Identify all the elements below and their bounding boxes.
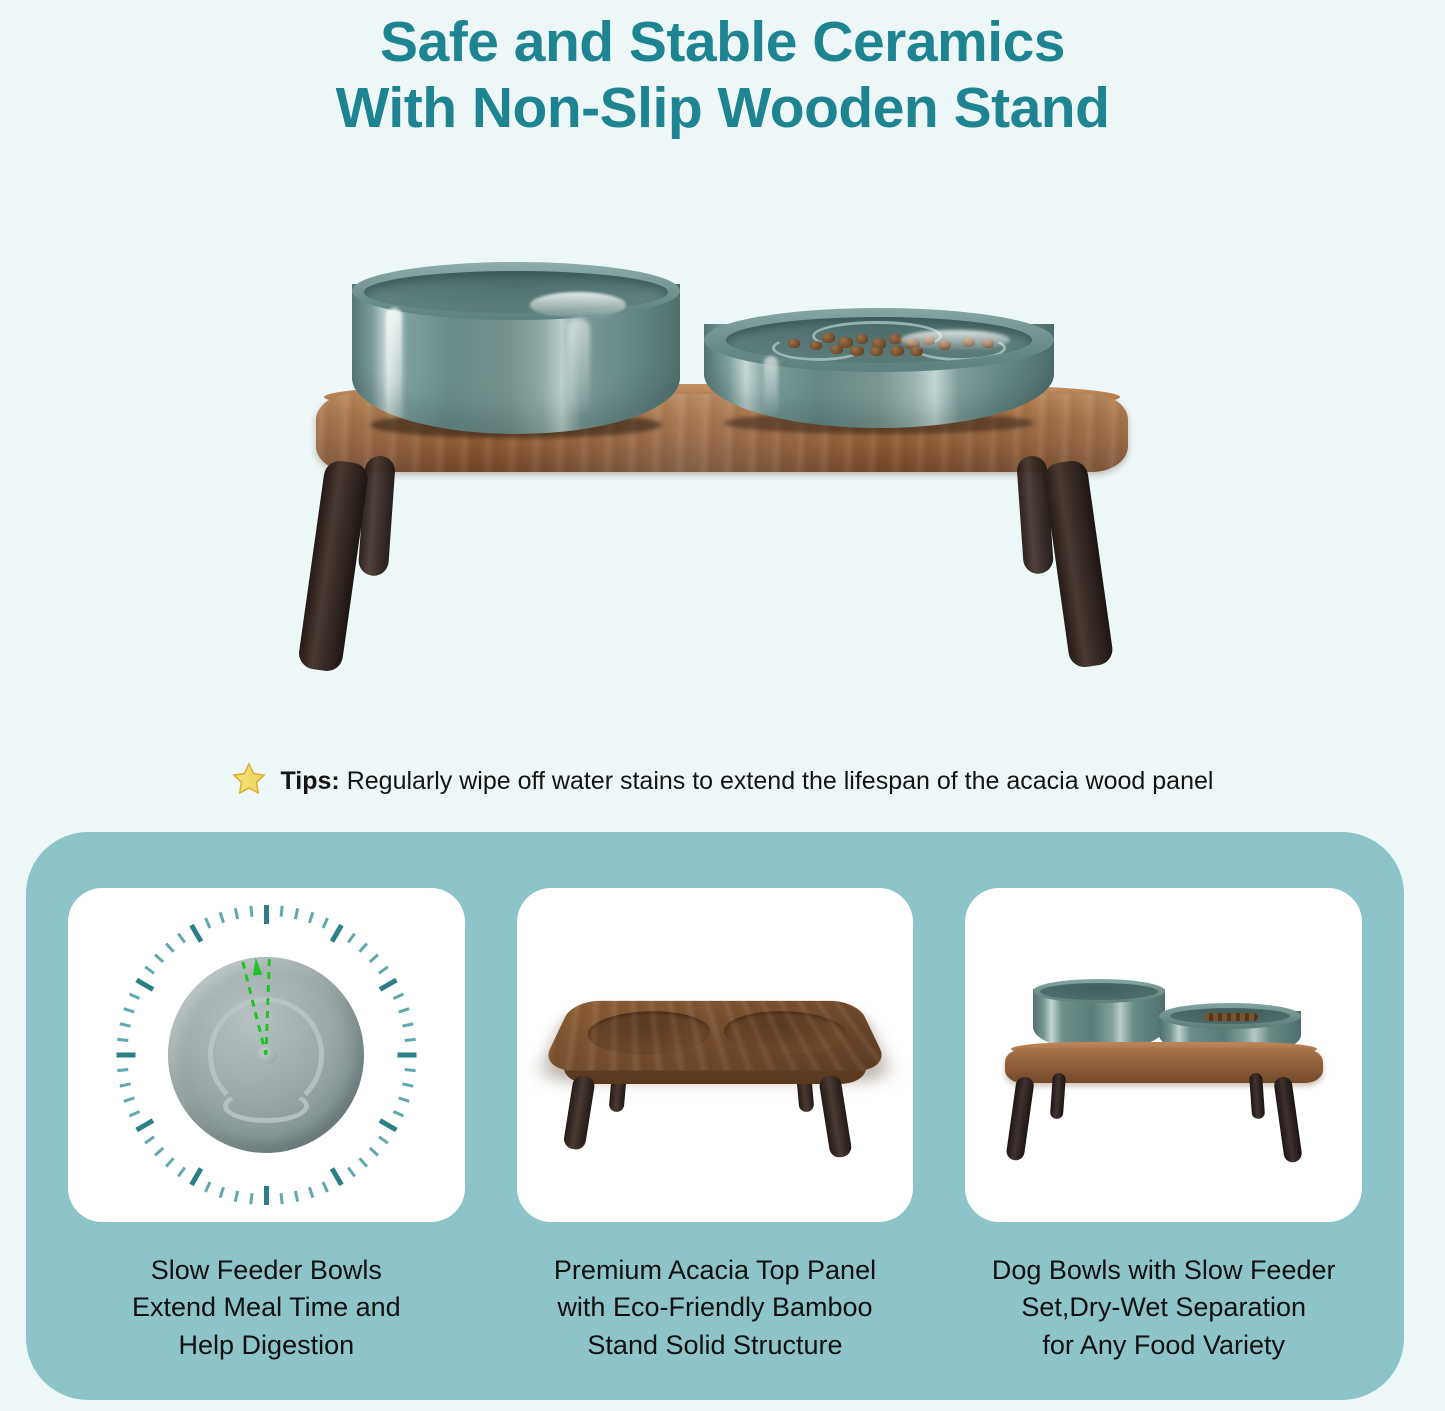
dial-tick-minor bbox=[378, 1135, 389, 1144]
dial-tick-minor bbox=[117, 1068, 128, 1072]
dial-tick-minor bbox=[393, 1110, 404, 1117]
kibble-pile bbox=[1204, 1013, 1258, 1021]
dial-tick-major bbox=[264, 1186, 269, 1205]
water-bowl bbox=[352, 262, 680, 442]
set-leg-front-right bbox=[1273, 1076, 1303, 1164]
set-leg-back-right bbox=[1249, 1073, 1265, 1120]
dial-tick-minor bbox=[279, 1193, 283, 1204]
dial-tick-minor bbox=[369, 954, 379, 964]
dial-tick-minor bbox=[129, 1110, 140, 1117]
kibble-piece bbox=[788, 339, 800, 348]
dial-tick-minor bbox=[119, 1022, 130, 1027]
dial-tick-minor bbox=[117, 1038, 128, 1042]
stand-leg-front-right bbox=[1042, 459, 1114, 669]
bowl-gloss-highlight bbox=[568, 318, 590, 414]
tips-row: Tips: Regularly wipe off water stains to… bbox=[0, 762, 1445, 796]
page-title-line-1: Safe and Stable Ceramics bbox=[0, 10, 1445, 76]
kibble-piece bbox=[822, 333, 835, 343]
tray-bowl-recess-left bbox=[579, 1011, 710, 1054]
kibble-piece bbox=[810, 341, 822, 350]
dial-tick-minor bbox=[402, 1082, 413, 1087]
dial-tick-minor bbox=[378, 966, 389, 975]
dial-tick-minor bbox=[119, 1082, 130, 1087]
dial-tick-major bbox=[189, 1167, 203, 1186]
dial-tick-minor bbox=[234, 1191, 239, 1202]
dial-tick-minor bbox=[308, 1187, 314, 1198]
set-leg-front-left bbox=[1005, 1076, 1035, 1162]
bowl-gloss-highlight bbox=[764, 356, 778, 416]
dial-tick-major bbox=[379, 1118, 398, 1132]
wooden-tray-stand-icon bbox=[550, 950, 880, 1160]
feeder-ridge-arc bbox=[223, 1089, 309, 1123]
star-icon bbox=[232, 762, 266, 794]
dial-tick-minor bbox=[249, 906, 253, 917]
dial-tick-minor bbox=[123, 1007, 134, 1013]
dial-tick-minor bbox=[393, 993, 404, 1000]
dial-tick-major bbox=[379, 978, 398, 992]
hero-stage bbox=[300, 180, 1150, 740]
bowl-gloss-highlight bbox=[900, 330, 1010, 350]
dial-tick-minor bbox=[398, 1007, 409, 1013]
kibble-piece bbox=[890, 346, 904, 356]
kibble-piece bbox=[850, 346, 864, 356]
caption-bowl-set: Dog Bowls with Slow Feeder Set,Dry-Wet S… bbox=[965, 1252, 1362, 1364]
dial-tick-minor bbox=[204, 917, 211, 928]
bowl-basin bbox=[1040, 983, 1158, 1000]
feature-captions-row: Slow Feeder Bowls Extend Meal Time and H… bbox=[68, 1252, 1362, 1364]
dial-tick-minor bbox=[129, 993, 140, 1000]
clock-dial-slow-feeder-icon bbox=[116, 905, 416, 1205]
dial-tick-minor bbox=[404, 1038, 415, 1042]
kibble-piece bbox=[830, 345, 843, 354]
dial-tick-major bbox=[135, 1118, 154, 1132]
dial-tick-minor bbox=[234, 908, 239, 919]
dial-tick-minor bbox=[144, 1135, 155, 1144]
dial-tick-minor bbox=[321, 917, 328, 928]
feature-card-slow-feeder[interactable] bbox=[68, 888, 465, 1222]
dial-tick-major bbox=[189, 924, 203, 943]
set-leg-back-left bbox=[1049, 1073, 1065, 1120]
dial-tick-minor bbox=[249, 1193, 253, 1204]
bowl-basin bbox=[1170, 1008, 1290, 1024]
tray-leg-front-right bbox=[818, 1074, 853, 1158]
tray-bowl-recess-right bbox=[723, 1011, 854, 1054]
features-panel: Slow Feeder Bowls Extend Meal Time and H… bbox=[26, 832, 1404, 1400]
hero-product-image bbox=[0, 180, 1445, 740]
dial-tick-minor bbox=[294, 1191, 299, 1202]
page-title: Safe and Stable Ceramics With Non-Slip W… bbox=[0, 10, 1445, 141]
full-bowl-set-icon bbox=[999, 945, 1329, 1165]
dial-tick-minor bbox=[219, 1187, 225, 1198]
slow-feeder-bowl bbox=[704, 308, 1054, 440]
bowl-gloss-highlight bbox=[530, 292, 626, 318]
kibble-piece bbox=[870, 347, 883, 356]
dial-tick-minor bbox=[358, 943, 368, 953]
bowl-gloss-highlight bbox=[386, 308, 402, 420]
dial-tick-minor bbox=[279, 906, 283, 917]
dial-tick-minor bbox=[123, 1097, 134, 1103]
dial-tick-minor bbox=[321, 1181, 328, 1192]
dial-tick-minor bbox=[165, 1157, 175, 1167]
dial-tick-minor bbox=[204, 1181, 211, 1192]
dial-tick-minor bbox=[402, 1022, 413, 1027]
feature-card-bowl-set[interactable] bbox=[965, 888, 1362, 1222]
dial-tick-minor bbox=[154, 1147, 164, 1157]
dial-tick-major bbox=[116, 1053, 135, 1058]
dial-tick-minor bbox=[154, 954, 164, 964]
dial-tick-major bbox=[264, 905, 269, 924]
kibble-piece bbox=[910, 347, 923, 356]
tray-leg-front-left bbox=[563, 1074, 596, 1151]
dial-tick-minor bbox=[358, 1157, 368, 1167]
feature-cards-row bbox=[68, 888, 1362, 1222]
dial-tick-minor bbox=[219, 912, 225, 923]
dial-tick-minor bbox=[165, 943, 175, 953]
dial-tick-major bbox=[135, 978, 154, 992]
dial-tick-minor bbox=[404, 1068, 415, 1072]
feature-card-acacia-panel[interactable] bbox=[517, 888, 914, 1222]
tips-text: Regularly wipe off water stains to exten… bbox=[347, 767, 1214, 795]
caption-acacia-panel: Premium Acacia Top Panel with Eco-Friend… bbox=[517, 1252, 914, 1364]
dial-tick-minor bbox=[177, 933, 186, 944]
kibble-piece bbox=[856, 334, 868, 344]
dial-tick-minor bbox=[347, 1167, 356, 1178]
tips-label: Tips: bbox=[280, 767, 339, 795]
dial-tick-minor bbox=[308, 912, 314, 923]
dial-tick-minor bbox=[369, 1147, 379, 1157]
dial-tick-major bbox=[330, 1167, 344, 1186]
dial-tick-major bbox=[330, 924, 344, 943]
dial-tick-minor bbox=[144, 966, 155, 975]
dial-tick-minor bbox=[398, 1097, 409, 1103]
tray-top-surface bbox=[540, 1001, 891, 1071]
caption-slow-feeder: Slow Feeder Bowls Extend Meal Time and H… bbox=[68, 1252, 465, 1364]
page-title-line-2: With Non-Slip Wooden Stand bbox=[0, 76, 1445, 142]
dial-tick-minor bbox=[347, 933, 356, 944]
dial-tick-minor bbox=[294, 908, 299, 919]
dial-tick-major bbox=[397, 1053, 416, 1058]
dial-tick-minor bbox=[177, 1167, 186, 1178]
